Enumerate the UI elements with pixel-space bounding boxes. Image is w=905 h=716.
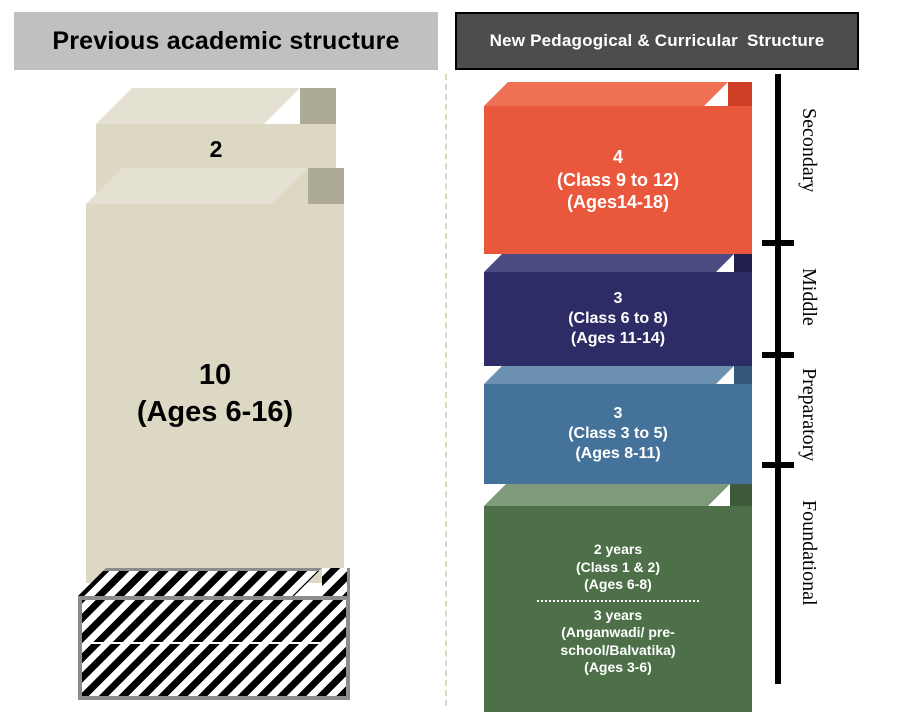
stage-axis-line: [775, 74, 781, 684]
foundational-upper-section: 2 years (Class 1 & 2) (Ages 6-8): [576, 541, 660, 594]
new-block-foundational: 2 years (Class 1 & 2) (Ages 6-8) 3 years…: [484, 484, 752, 712]
block-years-label: 2: [210, 135, 223, 164]
axis-label-secondary: Secondary: [797, 108, 820, 192]
block-years-label: 3 years: [594, 607, 642, 625]
block-front-face: 4 (Class 9 to 12) (Ages14-18): [484, 106, 752, 254]
block-front-face: 3 (Class 6 to 8) (Ages 11-14): [484, 272, 752, 366]
block-front-face: 3 (Class 3 to 5) (Ages 8-11): [484, 384, 752, 484]
axis-tick-middle-preparatory: [762, 352, 794, 358]
block-top-face: [484, 484, 730, 506]
block-divider-line: [88, 642, 326, 644]
block-classes-label-line2: school/Balvatika): [560, 642, 675, 660]
block-classes-label: (Class 9 to 12): [557, 169, 679, 192]
block-top-face: [96, 88, 300, 124]
previous-block-hatched-preschool: [78, 568, 350, 700]
new-block-secondary: 4 (Class 9 to 12) (Ages14-18): [484, 82, 752, 254]
block-years-label: 3: [614, 404, 623, 424]
new-block-preparatory: 3 (Class 3 to 5) (Ages 8-11): [484, 366, 752, 484]
axis-label-middle: Middle: [797, 268, 820, 326]
block-ages-label: (Ages 6-16): [137, 394, 293, 430]
previous-structure-header: Previous academic structure: [14, 12, 438, 70]
block-top-face: [86, 168, 308, 204]
block-classes-label: (Class 6 to 8): [568, 309, 668, 329]
foundational-dotted-separator: [537, 600, 699, 602]
axis-tick-preparatory-foundational: [762, 462, 794, 468]
block-ages-label: (Ages14-18): [567, 191, 669, 214]
block-ages-label: (Ages 3-6): [584, 659, 652, 677]
block-front-face: 2 years (Class 1 & 2) (Ages 6-8) 3 years…: [484, 506, 752, 712]
new-block-middle: 3 (Class 6 to 8) (Ages 11-14): [484, 254, 752, 366]
block-top-face: [78, 568, 322, 596]
block-classes-label: (Class 3 to 5): [568, 424, 668, 444]
block-top-face: [484, 366, 734, 384]
block-front-face: [78, 596, 350, 700]
new-structure-header-label-part1: New Pedagogical & Curricular: [490, 31, 738, 51]
block-years-label: 2 years: [594, 541, 642, 559]
section-divider: [445, 74, 447, 706]
block-top-face: [484, 254, 734, 272]
block-years-label: 3: [614, 289, 623, 309]
foundational-lower-section: 3 years (Anganwadi/ pre- school/Balvatik…: [560, 607, 675, 677]
previous-structure-header-label: Previous academic structure: [52, 27, 399, 56]
block-top-face: [484, 82, 728, 106]
block-ages-label: (Ages 8-11): [575, 444, 660, 464]
block-years-label: 4: [613, 146, 623, 169]
block-front-face: 10 (Ages 6-16): [86, 204, 344, 583]
block-years-label: 10: [199, 357, 231, 393]
new-structure-header-label-part2: Structure: [747, 31, 824, 51]
block-ages-label: (Ages 11-14): [571, 329, 665, 349]
block-classes-label: (Class 1 & 2): [576, 559, 660, 577]
axis-label-foundational: Foundational: [797, 500, 820, 606]
previous-block-10-years: 10 (Ages 6-16): [86, 168, 344, 583]
new-structure-header: New Pedagogical & CurricularStructure: [455, 12, 859, 70]
block-ages-label: (Ages 6-8): [584, 576, 652, 594]
block-classes-label-line1: (Anganwadi/ pre-: [561, 624, 675, 642]
axis-tick-secondary-middle: [762, 240, 794, 246]
axis-label-preparatory: Preparatory: [797, 368, 820, 461]
